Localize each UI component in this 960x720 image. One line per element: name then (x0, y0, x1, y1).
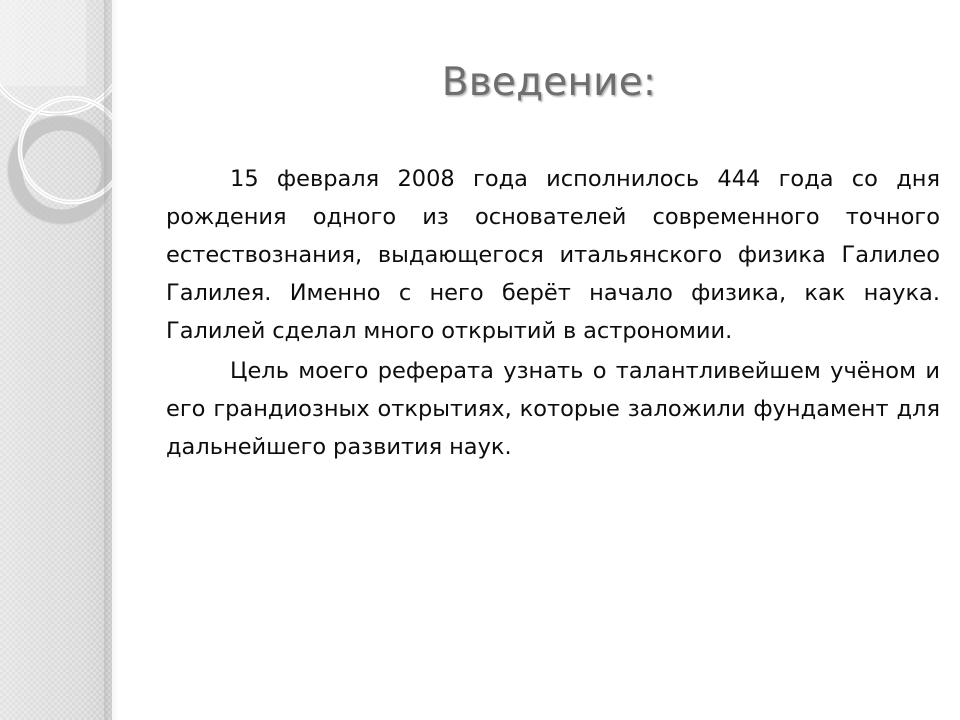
ring-large-top-fill (0, 0, 118, 111)
decorative-sidebar-panel (0, 0, 118, 720)
body-paragraph-1: 15 февраля 2008 года исполнилось 444 год… (166, 160, 940, 350)
slide-body: 15 февраля 2008 года исполнилось 444 год… (166, 160, 940, 466)
slide-canvas: Введение: 15 февраля 2008 года исполнило… (0, 0, 960, 720)
body-paragraph-2: Цель моего реферата узнать о талантливей… (166, 352, 940, 466)
sidebar-rings-graphic (0, 0, 118, 720)
sidebar-edge-shadow (104, 0, 118, 720)
slide-title: Введение: (168, 62, 930, 105)
